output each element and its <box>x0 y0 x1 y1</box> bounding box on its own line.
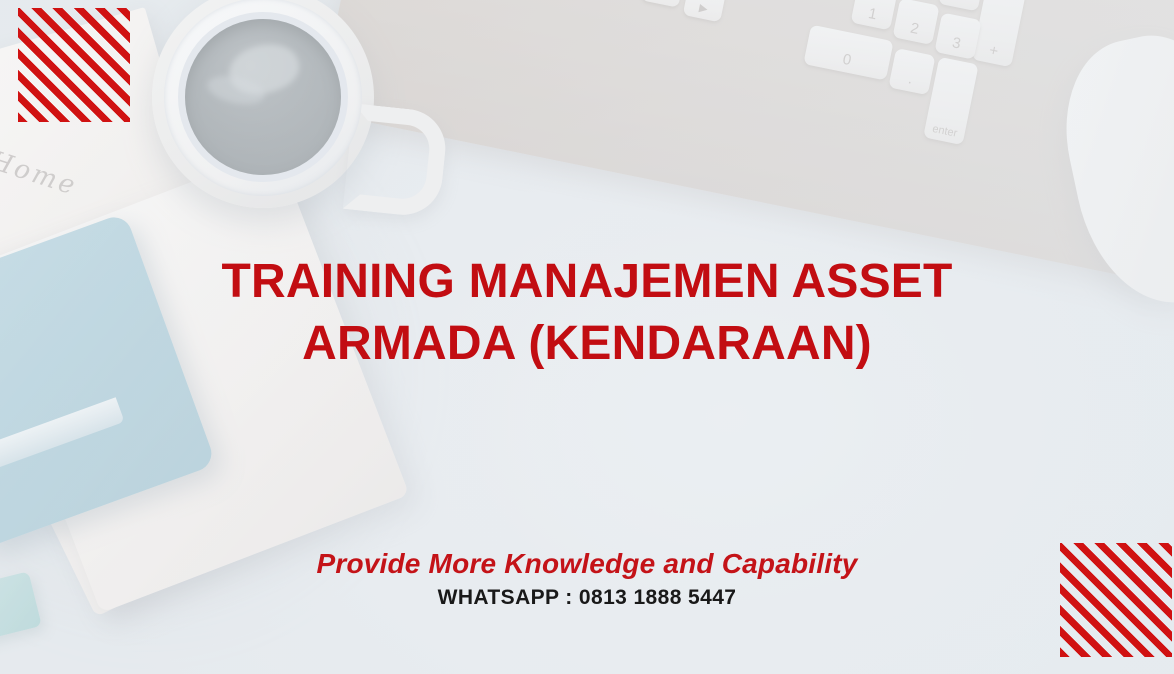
tagline: Provide More Knowledge and Capability <box>0 548 1174 580</box>
promo-banner: shift789-456+1230.enter▲◀▼▶ Work at Home <box>0 0 1174 674</box>
keyboard-key: 1 <box>851 0 898 30</box>
keyboard-key: . <box>888 48 935 95</box>
keyboard-key: + <box>972 0 1028 67</box>
whatsapp-contact: WHATSAPP : 0813 1888 5447 <box>0 586 1174 610</box>
keyboard-key: 2 <box>892 0 939 45</box>
stripe-block-top-left <box>18 8 130 122</box>
keyboard-key: 3 <box>934 12 981 59</box>
page-title-line-1: TRAINING MANAJEMEN ASSET <box>90 258 1084 306</box>
keyboard-key: 0 <box>803 25 893 81</box>
page-title: TRAINING MANAJEMEN ASSET ARMADA (KENDARA… <box>0 258 1174 368</box>
keyboard-key: 6 <box>938 0 985 11</box>
coffee-liquid <box>185 19 341 175</box>
page-title-line-2: ARMADA (KENDARAAN) <box>90 320 1084 368</box>
keyboard-key: ▶ <box>683 0 728 22</box>
keyboard-key: ▼ <box>641 0 686 8</box>
